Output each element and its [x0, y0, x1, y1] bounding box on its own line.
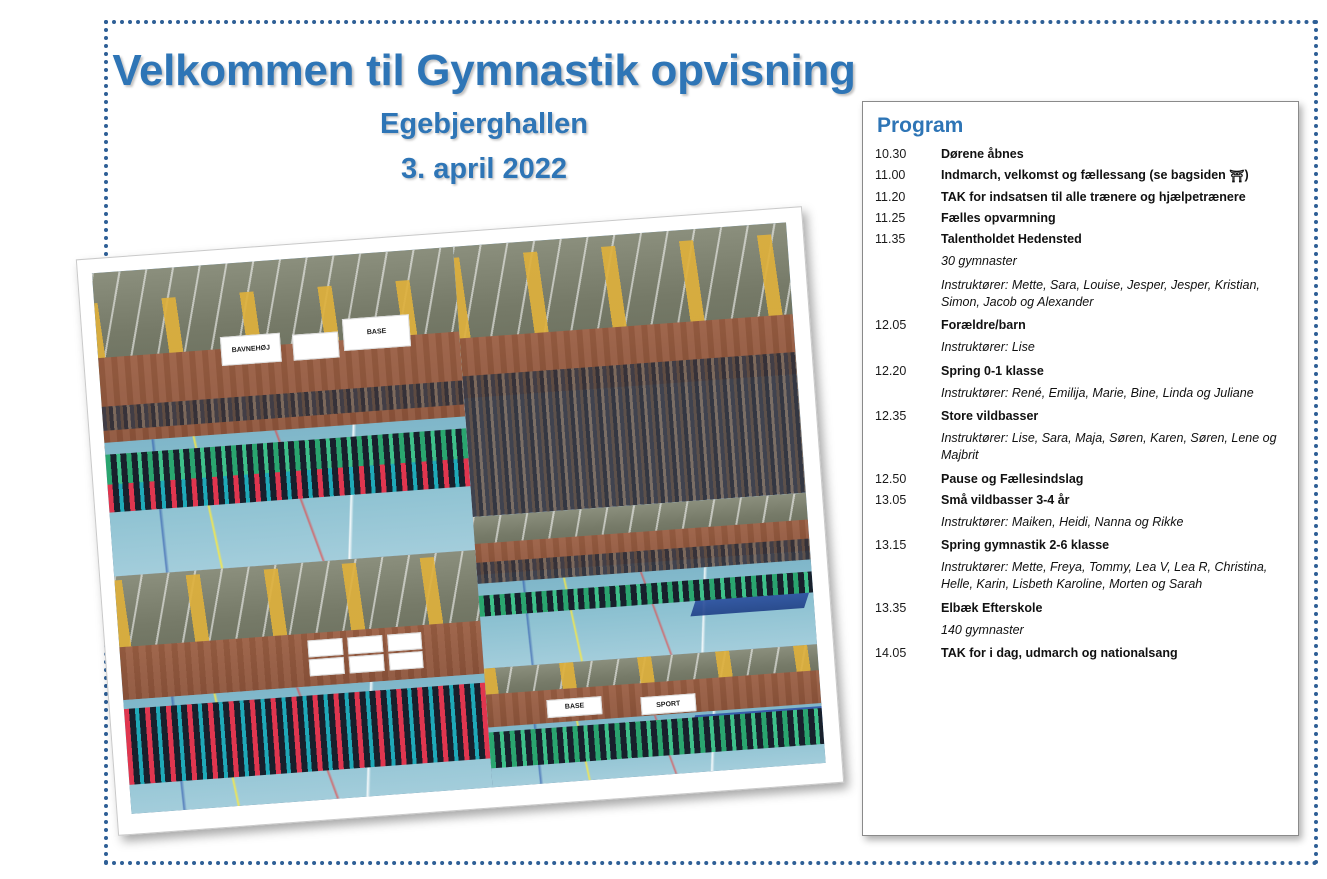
program-row: 14.05TAK for i dag, udmarch og nationals…: [875, 645, 1284, 661]
program-title: Store vildbasser: [941, 408, 1284, 424]
program-note: Instruktører: Maiken, Heidi, Nanna og Ri…: [941, 514, 1284, 531]
venue-subtitle: Egebjerghallen: [104, 108, 864, 141]
program-time: 13.15: [875, 537, 941, 552]
songbook-symbol-icon: ⛩: [1229, 169, 1244, 184]
program-time: 12.05: [875, 317, 941, 332]
program-note: 140 gymnaster: [941, 622, 1284, 639]
program-row: 13.35Elbæk Efterskole: [875, 600, 1284, 616]
photo-tile-warmup-group: [114, 549, 492, 813]
program-row: 11.35Talentholdet Hedensted: [875, 231, 1284, 247]
program-row: 13.05Små vildbasser 3-4 år: [875, 492, 1284, 508]
program-note: Instruktører: Mette, Freya, Tommy, Lea V…: [941, 559, 1284, 592]
photo-tile-flag-bearer: BAVNEHØJ BASE: [92, 247, 478, 579]
program-time: 10.30: [875, 146, 941, 161]
program-title: TAK for i dag, udmarch og nationalsang: [941, 645, 1284, 661]
program-time: 11.20: [875, 189, 941, 204]
program-row: 13.15Spring gymnastik 2-6 klasse: [875, 537, 1284, 553]
program-title: Forældre/barn: [941, 317, 1284, 333]
photo-collage: BAVNEHØJ BASE: [76, 206, 844, 836]
program-list: 10.30Dørene åbnes11.00Indmarch, velkomst…: [875, 146, 1284, 661]
program-title: Fælles opvarmning: [941, 210, 1284, 226]
program-time: 11.00: [875, 167, 941, 182]
program-title: Spring 0-1 klasse: [941, 363, 1284, 379]
program-heading: Program: [877, 114, 1284, 138]
program-row: 11.20TAK for indsatsen til alle trænere …: [875, 189, 1284, 205]
date-subtitle: 3. april 2022: [104, 153, 864, 186]
program-row: 10.30Dørene åbnes: [875, 146, 1284, 162]
photo-tile-audience: [453, 222, 806, 520]
program-title: Pause og Fællesindslag: [941, 471, 1284, 487]
program-panel: Program 10.30Dørene åbnes11.00Indmarch, …: [862, 101, 1299, 836]
program-row: 11.25Fælles opvarmning: [875, 210, 1284, 226]
program-title: Indmarch, velkomst og fællessang (se bag…: [941, 167, 1284, 184]
program-note: Instruktører: Lise, Sara, Maja, Søren, K…: [941, 430, 1284, 463]
program-row: 12.20Spring 0-1 klasse: [875, 363, 1284, 379]
program-time: 12.50: [875, 471, 941, 486]
collage-grid: BAVNEHØJ BASE: [92, 222, 826, 814]
photo-tile-coach-and-gymnasts: BASE SPORT: [484, 644, 826, 787]
program-time: 13.05: [875, 492, 941, 507]
program-title: Dørene åbnes: [941, 146, 1284, 162]
program-note: Instruktører: Mette, Sara, Louise, Jespe…: [941, 277, 1284, 310]
program-title: TAK for indsatsen til alle trænere og hj…: [941, 189, 1284, 205]
program-time: 11.35: [875, 231, 941, 246]
program-title-suffix: ): [1245, 168, 1249, 182]
program-time: 12.35: [875, 408, 941, 423]
program-time: 12.20: [875, 363, 941, 378]
program-title: Elbæk Efterskole: [941, 600, 1284, 616]
program-note: Instruktører: Lise: [941, 339, 1284, 356]
program-row: 12.05Forældre/barn: [875, 317, 1284, 333]
photo-tile-marching: [473, 493, 818, 672]
program-title: Spring gymnastik 2-6 klasse: [941, 537, 1284, 553]
program-title: Små vildbasser 3-4 år: [941, 492, 1284, 508]
program-row: 11.00Indmarch, velkomst og fællessang (s…: [875, 167, 1284, 184]
page-title: Velkommen til Gymnastik opvisning: [104, 48, 864, 94]
program-time: 13.35: [875, 600, 941, 615]
program-time: 11.25: [875, 210, 941, 225]
program-title: Talentholdet Hedensted: [941, 231, 1284, 247]
poster-heading-block: Velkommen til Gymnastik opvisning Egebje…: [104, 48, 864, 186]
program-note: 30 gymnaster: [941, 253, 1284, 270]
program-time: 14.05: [875, 645, 941, 660]
program-note: Instruktører: René, Emilija, Marie, Bine…: [941, 385, 1284, 402]
program-row: 12.35Store vildbasser: [875, 408, 1284, 424]
program-row: 12.50Pause og Fællesindslag: [875, 471, 1284, 487]
